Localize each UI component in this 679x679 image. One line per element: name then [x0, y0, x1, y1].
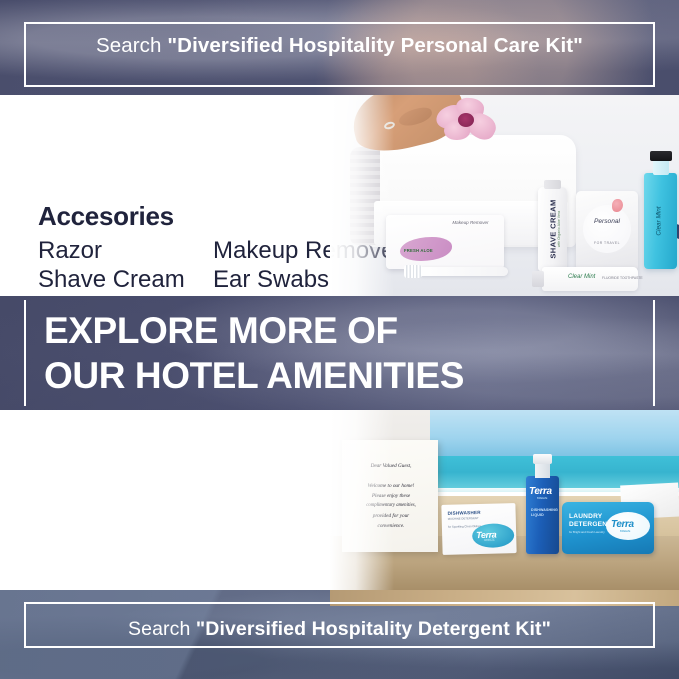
personal-care-oval-graphic	[583, 205, 631, 253]
dishwashing-liquid-bottle: Terra BREEZE DISHWASHING LIQUID	[526, 476, 559, 554]
mid-banner-headline: EXPLORE MORE OF OUR HOTEL AMENITIES	[44, 308, 464, 398]
mouthwash-bottle: Clear Mint	[644, 173, 677, 269]
top-search-banner: Search "Diversified Hospitality Personal…	[0, 0, 679, 95]
bottom-banner-lead: Search	[128, 618, 196, 640]
detergents-photo-left-fade	[330, 410, 394, 590]
list-item: Razor	[38, 237, 185, 266]
accessories-heading: Accesories	[38, 201, 174, 232]
shave-cream-label: SHAVE CREAM	[548, 199, 557, 258]
accessories-product-photo: Makeup Remover FRESH ALOE SHAVE CREAM wi…	[330, 95, 679, 296]
mid-banner-left-rule	[24, 300, 26, 406]
shave-cream-sublabel: with Organic Aloe Vera	[557, 211, 561, 247]
bottom-banner-wood-edge	[330, 590, 679, 606]
top-banner-text: Search "Diversified Hospitality Personal…	[0, 34, 679, 58]
dish-bottle-cap	[533, 454, 552, 464]
mouthwash-bottle-label: Clear Mint	[655, 206, 662, 235]
shave-cream-tube: SHAVE CREAM with Organic Aloe Vera	[538, 187, 567, 271]
personal-care-title: Personal	[576, 218, 638, 226]
dish-bottle-neck	[535, 462, 550, 478]
mouthwash-bottle-cap	[650, 151, 672, 161]
bottom-banner-text: Search "Diversified Hospitality Detergen…	[0, 618, 679, 641]
bottom-search-banner: Search "Diversified Hospitality Detergen…	[0, 590, 679, 679]
accessories-section: Makeup Remover FRESH ALOE SHAVE CREAM wi…	[0, 95, 679, 296]
explore-more-banner: EXPLORE MORE OF OUR HOTEL AMENITIES	[0, 296, 679, 410]
makeup-packet-badge: FRESH ALOE	[404, 248, 433, 253]
accessories-photo-left-fade	[330, 95, 394, 296]
beach-sky	[430, 410, 679, 456]
toothbrush-photo-element	[418, 267, 508, 276]
dish-bottle-label: DISHWASHING LIQUID	[531, 508, 559, 517]
dish-bottle-brand-sub: BREEZE	[537, 497, 547, 500]
orchid-flower-photo-element	[436, 98, 498, 144]
dish-bottle-brand: Terra	[529, 486, 552, 497]
toothpaste-cap	[532, 271, 544, 287]
laundry-pouch-title-line-1: LAUNDRY	[569, 513, 602, 520]
detergents-product-photo: Dear Valued Guest, Welcome to our home! …	[330, 410, 679, 590]
laundry-pouch-brand-sub: BREEZE	[620, 530, 630, 533]
top-banner-lead: Search	[96, 34, 167, 57]
laundry-detergent-pouch: LAUNDRY DETERGENT for Bright and Fresh L…	[562, 502, 654, 554]
laundry-pouch-brand: Terra	[611, 519, 634, 530]
dishwasher-packet-subtitle: MACHINE DETERGENT	[448, 516, 479, 521]
top-banner-query: "Diversified Hospitality Personal Care K…	[167, 34, 583, 57]
list-item: Shave Cream	[38, 266, 185, 295]
toothpaste-sublabel: FLUORIDE TOOTHPASTE	[602, 276, 643, 280]
dishwasher-packet-brand-sub: BREEZE	[484, 539, 494, 542]
amenities-infographic: Search "Diversified Hospitality Personal…	[0, 0, 679, 679]
shave-cream-cap	[544, 180, 561, 189]
mid-banner-headline-line-1: EXPLORE MORE OF	[44, 308, 464, 353]
makeup-remover-packet: Makeup Remover FRESH ALOE	[386, 215, 504, 269]
bottom-banner-query: "Diversified Hospitality Detergent Kit"	[196, 618, 551, 640]
toothpaste-label: Clear Mint	[568, 274, 595, 280]
makeup-packet-title: Makeup Remover	[442, 220, 499, 226]
dishwasher-packet-title: DISHWASHER	[448, 510, 481, 516]
mid-banner-headline-line-2: OUR HOTEL AMENITIES	[44, 353, 464, 398]
accessories-list-column-1: Razor Shave Cream Tooth Brush Tooth Past…	[38, 237, 185, 296]
detergents-section: Dear Valued Guest, Welcome to our home! …	[0, 410, 679, 590]
personal-care-subtitle: FOR TRAVEL	[576, 241, 638, 245]
toothpaste-tube: Clear Mint FLUORIDE TOOTHPASTE	[542, 267, 638, 291]
mid-banner-right-rule	[653, 300, 655, 406]
laundry-pouch-subtitle: for Bright and Fresh Laundry	[569, 530, 605, 534]
personal-care-pouch: Personal FOR TRAVEL	[576, 191, 638, 271]
dishwasher-detergent-packet: DISHWASHER MACHINE DETERGENT for Sparkli…	[441, 503, 516, 555]
